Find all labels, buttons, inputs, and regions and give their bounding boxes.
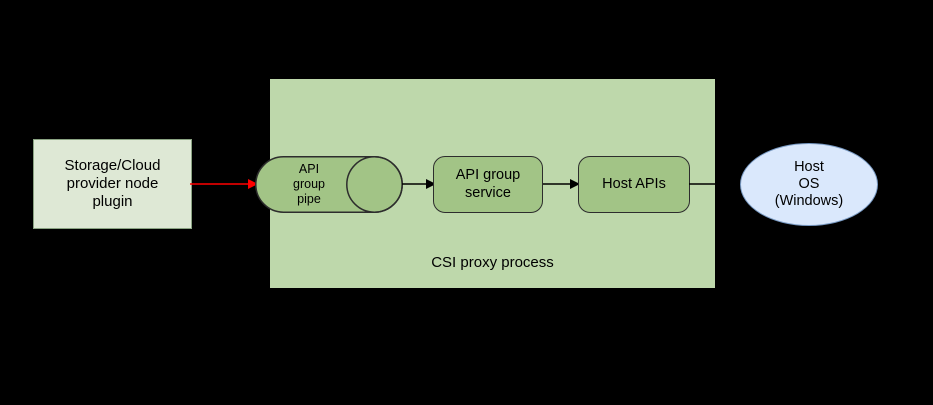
edge-storage-to-pipe <box>188 172 260 196</box>
storage-plugin-label: Storage/Cloud provider node plugin <box>34 140 191 228</box>
node-host-apis[interactable]: Host APIs <box>578 156 690 213</box>
node-api-group-service[interactable]: API group service <box>433 156 543 213</box>
api-group-pipe-label: API group pipe <box>255 156 363 213</box>
host-apis-label: Host APIs <box>579 157 689 212</box>
node-storage-cloud-provider-node-plugin[interactable]: Storage/Cloud provider node plugin <box>33 139 192 229</box>
api-group-service-label: API group service <box>434 157 542 212</box>
csi-proxy-process-label: CSI proxy process <box>270 254 715 271</box>
node-api-group-pipe[interactable]: API group pipe <box>255 156 403 213</box>
diagram-canvas: CSI proxy process Storage/Cloud provider… <box>0 0 933 405</box>
node-host-os[interactable]: Host OS (Windows) <box>740 143 878 226</box>
edge-storage-to-pipe-arrow <box>188 172 260 196</box>
host-os-label: Host OS (Windows) <box>741 144 877 225</box>
